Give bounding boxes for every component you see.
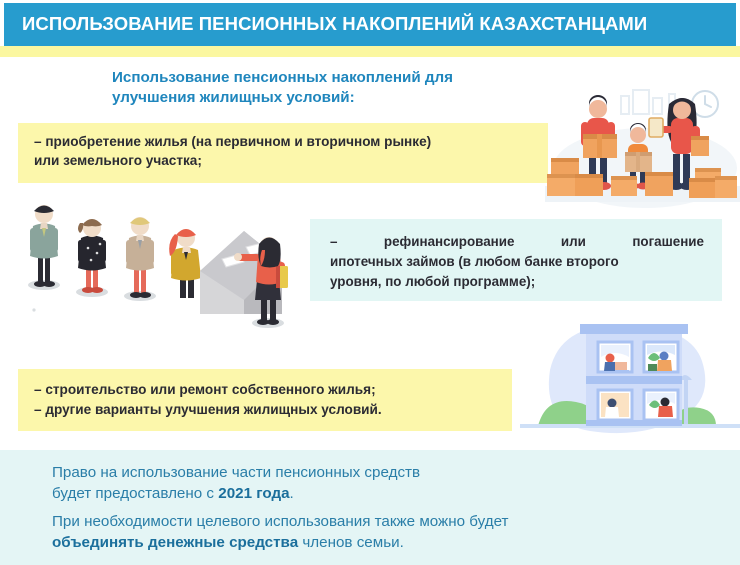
bullet-construction-line-1: – строительство или ремонт собственного … — [34, 380, 498, 400]
summary-p1-line1: Право на использование части пенсионных … — [52, 464, 420, 481]
bullet-box-construction: – строительство или ремонт собственного … — [18, 369, 512, 431]
bullet-purchase-line-2: или земельного участка; — [34, 151, 534, 170]
page-title: ИСПОЛЬЗОВАНИЕ ПЕНСИОННЫХ НАКОПЛЕНИЙ КАЗА… — [4, 15, 647, 34]
window-bottom-left — [598, 390, 632, 420]
people-queue-illustration — [14, 192, 306, 332]
window-top-left — [598, 342, 632, 372]
subtitle-line-2: улучшения жилищных условий: — [112, 88, 562, 108]
summary-p1-line2-post: . — [290, 485, 294, 502]
bullet-box-refinance: – рефинансирование или погашение ипотечн… — [310, 219, 722, 301]
bullet-construction-line-2: – другие варианты улучшения жилищных усл… — [34, 400, 498, 420]
bottom-summary-panel: Право на использование части пенсионных … — [0, 450, 740, 565]
summary-p2-line1: При необходимости целевого использования… — [52, 513, 509, 530]
queue-person-1 — [28, 205, 60, 290]
queue-person-2 — [76, 219, 108, 297]
window-top-right — [644, 342, 678, 372]
queue-person-4 — [169, 229, 201, 298]
queue-person-3 — [124, 217, 156, 301]
summary-paragraph-2: При необходимости целевого использования… — [52, 512, 712, 553]
summary-p1-line2-pre: будет предоставлено с — [52, 485, 218, 502]
infographic-page: ИСПОЛЬЗОВАНИЕ ПЕНСИОННЫХ НАКОПЛЕНИЙ КАЗА… — [0, 0, 740, 565]
header-accent-strip — [0, 46, 740, 57]
summary-paragraph-1: Право на использование части пенсионных … — [52, 463, 692, 504]
bullet-refinance-line-1: – рефинансирование или погашение — [330, 232, 704, 252]
section-subtitle: Использование пенсионных накоплений для … — [112, 68, 562, 108]
family-with-moving-boxes-illustration — [545, 82, 740, 212]
window-bottom-right — [644, 390, 678, 420]
summary-p2-line2-post: членов семьи. — [298, 534, 404, 551]
bullet-refinance-line-3: уровня, по любой программе); — [330, 272, 704, 292]
bullet-purchase-line-1: – приобретение жилья (на первичном и вто… — [34, 132, 534, 151]
subtitle-line-1: Использование пенсионных накоплений для — [112, 68, 562, 88]
bullet-box-purchase: – приобретение жилья (на первичном и вто… — [18, 123, 548, 183]
summary-p1-highlight-year: 2021 года — [218, 485, 289, 502]
apartment-building-illustration — [520, 300, 740, 450]
summary-p2-highlight-funds: объединять денежные средства — [52, 534, 298, 551]
header-band: ИСПОЛЬЗОВАНИЕ ПЕНСИОННЫХ НАКОПЛЕНИЙ КАЗА… — [0, 0, 740, 46]
bullet-refinance-line-2: ипотечных займов (в любом банке второго — [330, 252, 704, 272]
